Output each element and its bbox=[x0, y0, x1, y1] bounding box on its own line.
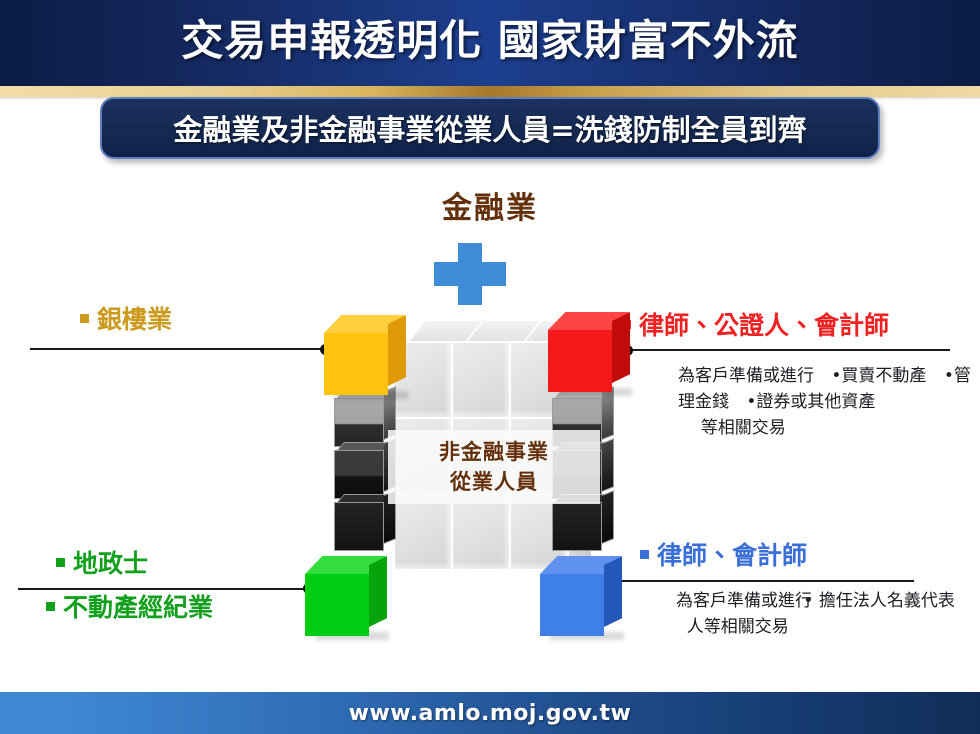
core-label: 非金融事業 從業人員 bbox=[388, 437, 600, 497]
cube-red-front bbox=[548, 330, 612, 392]
callout-bottom-left-text-2: 不動產經紀業 bbox=[63, 593, 213, 622]
cube-yellow bbox=[324, 315, 406, 395]
callout-top-right-text: 律師、公證人、會計師 bbox=[639, 311, 889, 340]
callout-top-right-body: 為客戶準備或進行 •買賣不動產 •管理金錢 •證券或其他資產 等相關交易 bbox=[678, 363, 980, 441]
callout-top-left-text: 銀樓業 bbox=[97, 305, 172, 334]
dark-cube-left-2-front bbox=[334, 450, 384, 499]
callout-top-right: 律師、公證人、會計師 bbox=[622, 310, 889, 342]
cube-red bbox=[548, 312, 630, 392]
callout-top-right-body-line-0: 為客戶準備或進行 bbox=[678, 366, 814, 386]
cube-blue-front bbox=[540, 574, 604, 636]
callout-top-right-body-line-3: •證券或其他資產 bbox=[746, 392, 875, 412]
dark-cube-column-left bbox=[334, 390, 396, 551]
cube-blue bbox=[540, 556, 622, 636]
cube-green bbox=[305, 556, 387, 636]
callout-bottom-right-body-line-2: 人等相關交易 bbox=[676, 617, 789, 637]
callout-top-right-body-line-1: •買賣不動產 bbox=[831, 366, 926, 386]
callout-bottom-left-headline-2: 不動產經紀業 bbox=[46, 592, 213, 624]
cube-blue-side bbox=[604, 556, 622, 627]
cube-red-side bbox=[612, 312, 630, 383]
callout-bottom-right-headline: 律師、會計師 bbox=[640, 540, 807, 572]
connector-line-top-left bbox=[30, 348, 330, 350]
callout-top-left-headline: 銀樓業 bbox=[80, 304, 172, 336]
cube-yellow-front bbox=[324, 333, 388, 395]
callout-bottom-right-body-line-1: • 擔任法人名義代表 bbox=[803, 591, 954, 611]
callout-bottom-left-headline-1: 地政士 bbox=[56, 548, 213, 580]
footer-bar: www.amlo.moj.gov.tw bbox=[0, 692, 980, 734]
callout-top-right-body-line-4: 等相關交易 bbox=[690, 418, 786, 438]
section-label-finance: 金融業 bbox=[0, 183, 980, 227]
cube-green-side bbox=[369, 556, 387, 627]
dark-cube-right-3-side bbox=[602, 490, 614, 544]
page-title: 交易申報透明化 國家財富不外流 bbox=[0, 12, 980, 70]
square-bullet-icon bbox=[80, 314, 89, 323]
callout-bottom-left: 地政士 不動產經紀業 bbox=[46, 548, 213, 624]
dark-cube-right-3-front bbox=[552, 502, 602, 551]
core-label-line1: 非金融事業 bbox=[388, 437, 600, 467]
square-bullet-icon bbox=[56, 558, 65, 567]
callout-top-left: 銀樓業 bbox=[80, 304, 172, 336]
callout-bottom-right-body-line-0: 為客戶準備或進行 bbox=[676, 591, 812, 611]
connector-line-bottom-right bbox=[604, 580, 914, 582]
cube-yellow-side bbox=[388, 315, 406, 386]
core-face-r3c1 bbox=[394, 494, 452, 570]
gold-divider bbox=[0, 86, 980, 97]
square-bullet-icon bbox=[46, 602, 55, 611]
dark-cube-left-3-front bbox=[334, 502, 384, 551]
plus-icon-vertical bbox=[458, 243, 482, 305]
plus-icon bbox=[434, 243, 506, 305]
core-label-line2: 從業人員 bbox=[388, 467, 600, 497]
dark-cube-right-2-side bbox=[602, 438, 614, 492]
core-face-r3c2 bbox=[452, 494, 510, 570]
slide-root: 交易申報透明化 國家財富不外流 金融業及非金融事業從業人員=洗錢防制全員到齊 金… bbox=[0, 0, 980, 734]
callout-top-right-headline: 律師、公證人、會計師 bbox=[622, 310, 889, 342]
square-bullet-icon bbox=[640, 550, 649, 559]
callout-bottom-right-body: 為客戶準備或進行 • 擔任法人名義代表 人等相關交易 bbox=[676, 588, 980, 640]
callout-bottom-left-text-1: 地政士 bbox=[73, 549, 148, 578]
callout-bottom-right-text: 律師、會計師 bbox=[657, 541, 807, 570]
dark-cube-left-1-front bbox=[334, 398, 384, 447]
dark-cube-left-3 bbox=[334, 494, 396, 551]
footer-url: www.amlo.moj.gov.tw bbox=[349, 701, 632, 726]
callout-bottom-right: 律師、會計師 bbox=[640, 540, 807, 572]
dark-cube-left-2 bbox=[334, 442, 396, 499]
core-face-r1c2 bbox=[452, 342, 510, 418]
cube-green-front bbox=[305, 574, 369, 636]
subtitle-banner: 金融業及非金融事業從業人員=洗錢防制全員到齊 bbox=[100, 97, 880, 159]
subtitle-text: 金融業及非金融事業從業人員=洗錢防制全員到齊 bbox=[173, 107, 806, 149]
connector-line-top-right bbox=[630, 349, 950, 351]
